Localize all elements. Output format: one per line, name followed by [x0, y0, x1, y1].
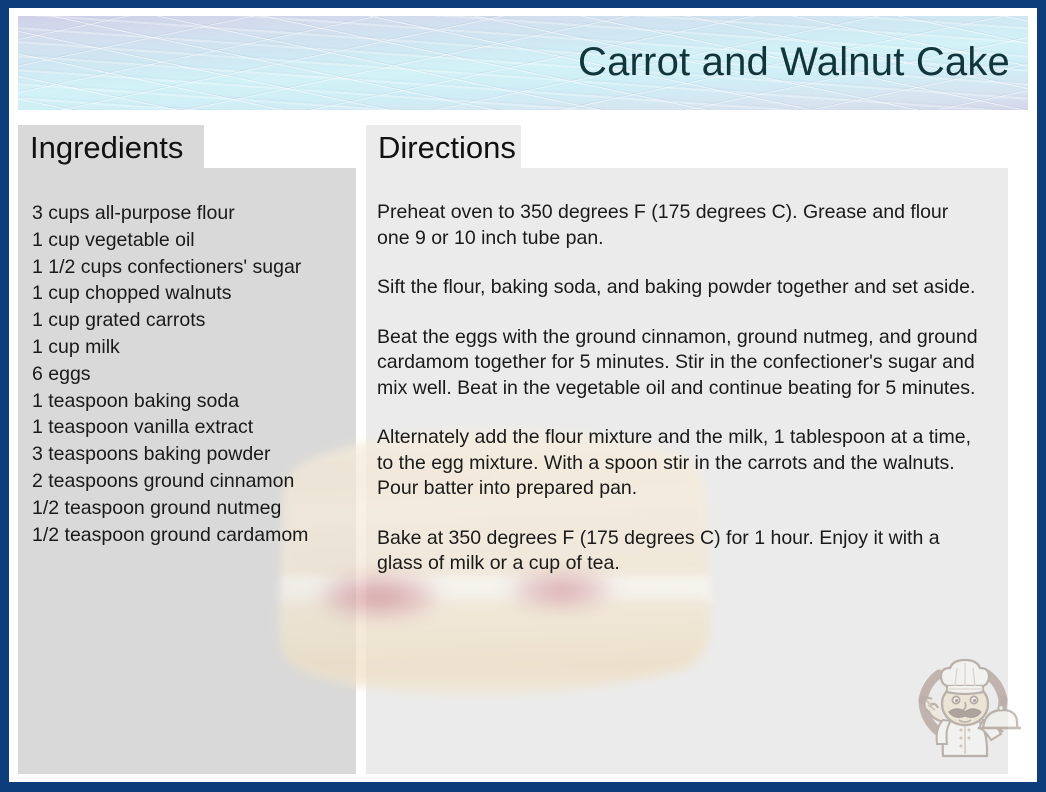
ingredient-item: 1 cup vegetable oil — [32, 227, 350, 254]
ingredient-item: 1/2 teaspoon ground nutmeg — [32, 495, 350, 522]
directions-heading-label: Directions — [378, 130, 516, 166]
ingredient-item: 1 cup chopped walnuts — [32, 280, 350, 307]
page-title: Carrot and Walnut Cake — [578, 41, 1010, 83]
ingredients-heading-label: Ingredients — [30, 130, 183, 166]
ingredient-item: 3 teaspoons baking powder — [32, 441, 350, 468]
ingredient-item: 1 teaspoon vanilla extract — [32, 414, 350, 441]
direction-step: Beat the eggs with the ground cinnamon, … — [377, 325, 986, 402]
ingredient-item: 3 cups all-purpose flour — [32, 200, 350, 227]
header-banner: Carrot and Walnut Cake — [18, 16, 1028, 110]
ingredient-item: 1 cup milk — [32, 334, 350, 361]
ingredients-list: 3 cups all-purpose flour1 cup vegetable … — [18, 200, 356, 548]
ingredient-item: 1 1/2 cups confectioners' sugar — [32, 254, 350, 281]
ingredient-item: 2 teaspoons ground cinnamon — [32, 468, 350, 495]
section-heading-ingredients: Ingredients — [18, 125, 204, 170]
direction-step: Alternately add the flour mixture and th… — [377, 425, 986, 502]
recipe-card: Carrot and Walnut Cake — [0, 0, 1046, 792]
section-heading-directions: Directions — [366, 125, 521, 170]
ingredient-item: 1 cup grated carrots — [32, 307, 350, 334]
direction-step: Sift the flour, baking soda, and baking … — [377, 275, 986, 301]
direction-step: Preheat oven to 350 degrees F (175 degre… — [377, 200, 986, 251]
direction-step: Bake at 350 degrees F (175 degrees C) fo… — [377, 526, 986, 577]
ingredient-item: 6 eggs — [32, 361, 350, 388]
ingredient-item: 1/2 teaspoon ground cardamom — [32, 522, 350, 549]
directions-list: Preheat oven to 350 degrees F (175 degre… — [366, 200, 1008, 577]
card-inner: Carrot and Walnut Cake — [9, 8, 1037, 782]
ingredient-item: 1 teaspoon baking soda — [32, 388, 350, 415]
